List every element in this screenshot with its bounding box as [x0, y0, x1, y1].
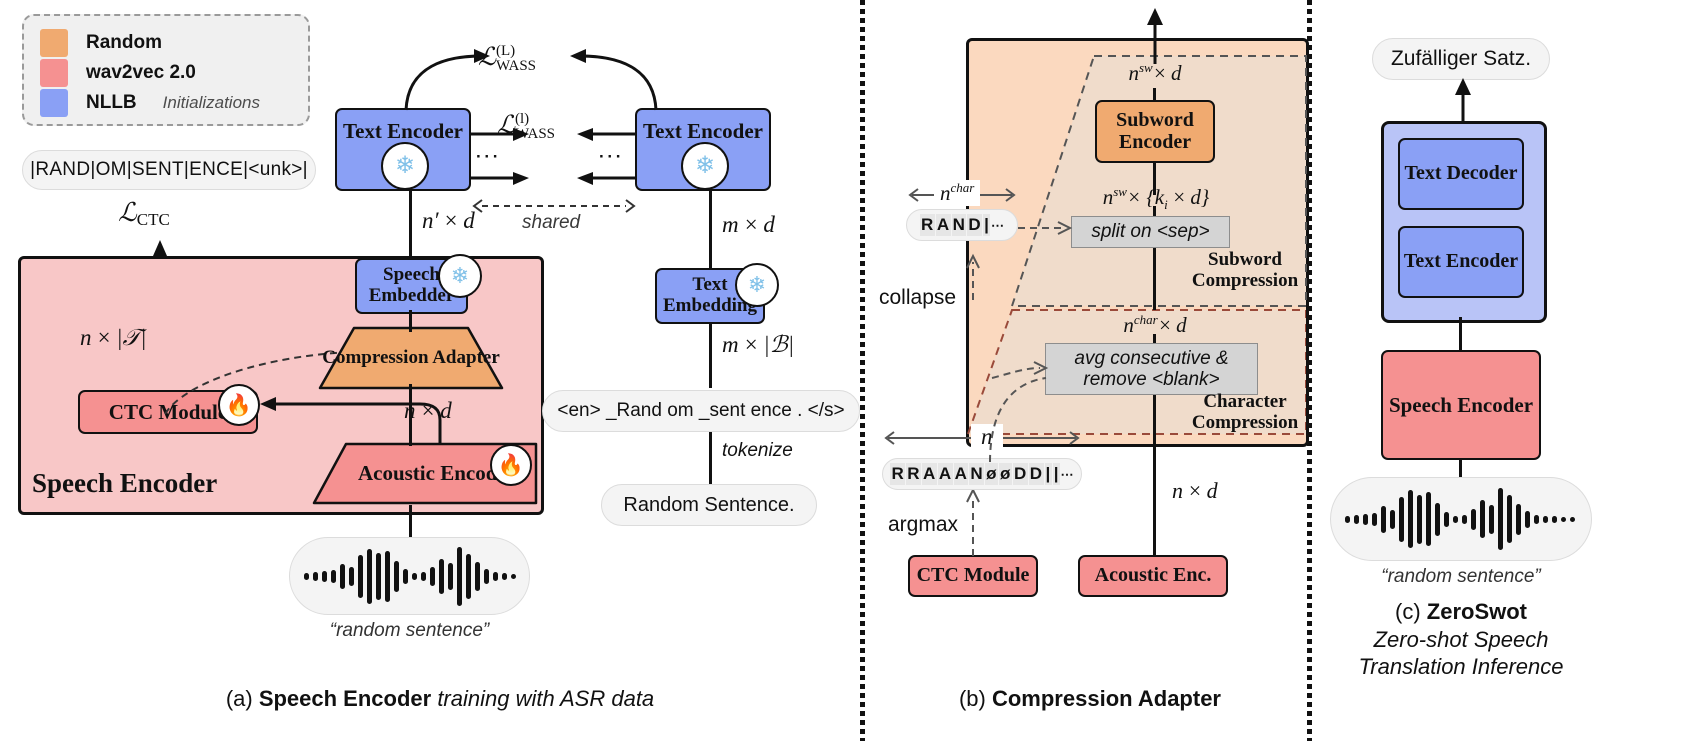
spine-b-1	[1153, 88, 1156, 102]
speech-encoder-title: Speech Encoder	[32, 468, 217, 499]
ellipsis-right: · · ·	[599, 147, 620, 167]
compression-adapter-trapezoid: Compression Adapter	[318, 326, 504, 390]
spine-adapter-acoustic	[409, 384, 412, 446]
panel-b-caption-prefix: (b)	[959, 686, 992, 711]
dim-n-d-b: n × d	[1172, 478, 1218, 504]
audio-waveform-pill-c	[1330, 477, 1592, 561]
source-sentence-pill: Random Sentence.	[601, 484, 817, 526]
panel-b-caption-bold: Compression Adapter	[992, 686, 1221, 711]
wass-top-curve-left	[398, 48, 490, 112]
audio-caption-c: “random sentence”	[1330, 566, 1592, 588]
ctc-module-label-b: CTC Module	[917, 565, 1030, 587]
ellipsis-left: · · ·	[476, 147, 497, 167]
subword-compression-label: Subword Compression	[1180, 250, 1310, 292]
loss-wass-top-sub: WASS	[496, 59, 536, 74]
acoustic-enc-label: Acoustic Enc.	[1095, 565, 1212, 587]
legend-label-random: Random	[86, 32, 162, 54]
text-encoder-box-c: Text Encoder	[1398, 226, 1524, 298]
panel-c-caption-prefix: (c)	[1395, 599, 1427, 624]
spine-acoustic-audio	[409, 505, 412, 539]
dim-n-prime-d: n′ × d	[422, 208, 475, 234]
panel-c-caption-line3: Translation Inference	[1318, 653, 1604, 681]
subword-encoder-label: Subword Encoder	[1097, 110, 1213, 153]
panel-separator-ab	[860, 0, 865, 741]
argmax-dashed-arrow	[965, 478, 981, 558]
legend-caption: Initializations	[163, 93, 260, 113]
waveform-icon	[1343, 486, 1579, 552]
text-encoder-label-c: Text Encoder	[1404, 251, 1518, 273]
text-decoder-box: Text Decoder	[1398, 138, 1524, 210]
legend-item-wav2vec: wav2vec 2.0	[40, 58, 292, 88]
panel-c-output-arrow	[1453, 78, 1473, 122]
audio-waveform-pill-a	[289, 537, 530, 615]
loss-wass-top-sup: (L)	[496, 44, 536, 59]
legend-label-wav2vec: wav2vec 2.0	[86, 62, 196, 84]
speech-encoder-box-c: Speech Encoder	[1381, 350, 1541, 460]
legend-swatch-random	[40, 29, 68, 57]
panel-a-caption-bold: Speech Encoder	[259, 686, 431, 711]
dim-nsw-kid: nsw× {ki × d}	[1068, 184, 1244, 213]
dim-m-B: m × |ℬ|	[722, 332, 794, 358]
panel-b-output-arrow	[1145, 8, 1165, 64]
avg-box-pointer	[990, 356, 1052, 382]
spine-b-4	[1153, 248, 1156, 310]
ctc-sequence-chars: RRAAANøøDD||⋯	[890, 463, 1074, 485]
collapse-label: collapse	[879, 286, 956, 310]
avg-remove-blank-box: avg consecutive & remove <blank>	[1045, 343, 1258, 395]
subword-encoder-box: Subword Encoder	[1095, 100, 1215, 163]
dim-m-d: m × d	[722, 212, 775, 238]
dim-n-vocab: n × |𝒯|	[80, 325, 147, 351]
wass-top-curve-right	[570, 48, 664, 112]
text-encoder-left-label: Text Encoder	[343, 120, 463, 143]
audio-caption-a: “random sentence”	[289, 620, 530, 642]
panel-a-caption: (a) Speech Encoder training with ASR dat…	[60, 686, 820, 712]
ctc-seq-to-avg-dashed-arrow	[984, 368, 1054, 464]
compression-adapter-label: Compression Adapter	[318, 326, 504, 390]
tokenized-sentence-pill: <en> _Rand om _sent ence . </s>	[542, 390, 860, 432]
argmax-label: argmax	[888, 513, 958, 537]
legend-swatch-wav2vec	[40, 59, 68, 87]
loss-wass-mid-sup: (l)	[515, 112, 555, 127]
subword-compression-text: Subword Compression	[1192, 249, 1298, 291]
spine-textenc-embedder	[409, 190, 412, 260]
text-encoder-right-label: Text Encoder	[643, 120, 763, 143]
legend-item-nllb: NLLB Initializations	[40, 88, 292, 118]
legend-item-random: Random	[40, 28, 292, 58]
spine-c-1	[1459, 317, 1462, 350]
character-compression-label: Character Compression	[1182, 392, 1308, 434]
loss-ctc-label: ℒCTC	[118, 198, 170, 230]
dim-nsw-d: nsw× d	[1090, 60, 1220, 86]
panel-c-caption-bold: ZeroSwot	[1427, 599, 1527, 624]
snowflake-icon: ❄	[735, 263, 779, 307]
char-sequence-pill: RAND|⋯	[906, 209, 1018, 241]
ctc-target-pill: |RAND|OM|SENT|ENCE|<unk>|	[22, 150, 316, 190]
charpill-to-split-dashed-arrow	[1018, 218, 1078, 238]
legend-swatch-nllb	[40, 89, 68, 117]
output-sentence-pill: Zufälliger Satz.	[1372, 38, 1550, 80]
panel-a-caption-suffix: training with ASR data	[431, 686, 654, 711]
spine-embedder-adapter	[409, 310, 412, 332]
panel-c-caption: (c) ZeroSwot Zero-shot Speech Translatio…	[1318, 598, 1604, 681]
fire-icon: 🔥	[490, 444, 532, 486]
char-sequence-chars: RAND|⋯	[920, 214, 1005, 236]
tokenize-label: tokenize	[722, 440, 793, 462]
waveform-icon	[302, 545, 517, 607]
snowflake-icon: ❄	[681, 142, 729, 190]
spine-right-tokenize	[709, 432, 712, 484]
panel-c-caption-line2: Zero-shot Speech	[1318, 626, 1604, 654]
snowflake-icon: ❄	[438, 254, 482, 298]
ctc-module-box-b: CTC Module	[908, 555, 1038, 597]
shared-label: shared	[522, 212, 580, 234]
spine-right-emb-tokenpill	[709, 323, 712, 388]
nchar-measure-label: nchar	[934, 180, 980, 206]
legend-box: Random wav2vec 2.0 NLLB Initializations	[22, 14, 310, 126]
panel-b-caption: (b) Compression Adapter	[880, 686, 1300, 712]
acoustic-enc-box-b: Acoustic Enc.	[1078, 555, 1228, 597]
panel-a-caption-prefix: (a)	[226, 686, 259, 711]
legend-label-nllb: NLLB	[86, 92, 137, 114]
snowflake-icon: ❄	[381, 142, 429, 190]
spine-right-textenc-emb	[709, 190, 712, 268]
spine-b-6	[1153, 395, 1156, 555]
character-compression-text: Character Compression	[1192, 391, 1298, 433]
collapse-dashed-arrow	[965, 246, 981, 302]
split-on-sep-box: split on <sep>	[1071, 216, 1230, 248]
speech-encoder-label-c: Speech Encoder	[1389, 394, 1533, 417]
text-decoder-label: Text Decoder	[1404, 163, 1517, 185]
loss-ctc-sub: CTC	[137, 210, 170, 229]
